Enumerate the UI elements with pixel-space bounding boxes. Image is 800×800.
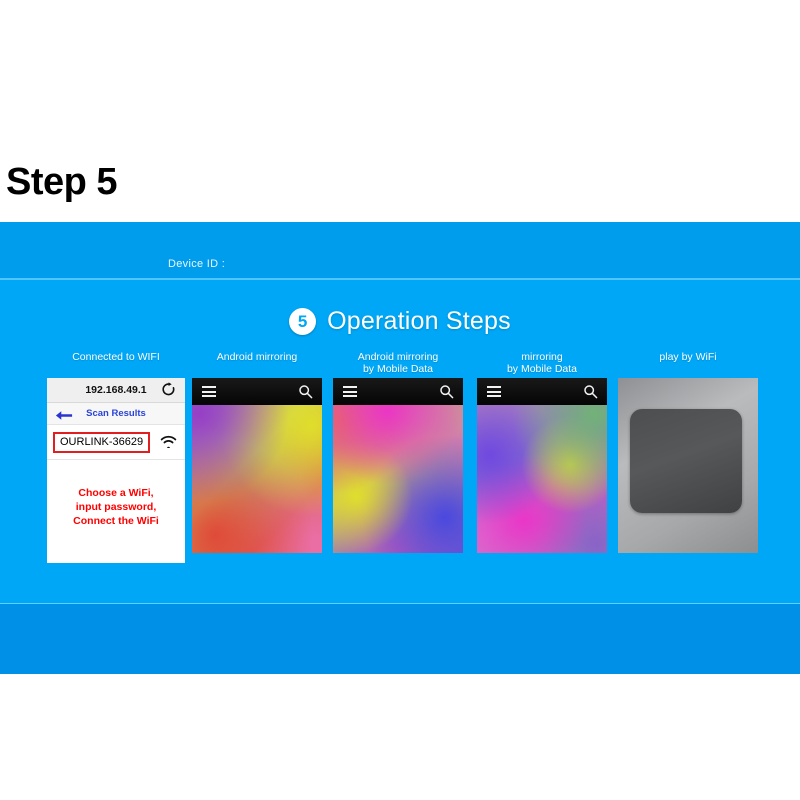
panel-connected-to-wifi: Connected to WIFI 192.168.49.1 Scan R	[47, 352, 185, 563]
caption-line-2: by Mobile Data	[477, 364, 607, 376]
caption-line-1: play by WiFi	[618, 352, 758, 364]
search-icon[interactable]	[439, 384, 454, 399]
search-icon[interactable]	[298, 384, 313, 399]
wifi-url-bar: 192.168.49.1	[47, 378, 185, 403]
wifi-signal-icon	[160, 435, 177, 448]
mirrored-screen-content	[192, 405, 322, 553]
app-toolbar	[333, 378, 463, 405]
mirrored-screen-content	[477, 405, 607, 553]
search-icon[interactable]	[583, 384, 598, 399]
panel-caption-android-mirroring-mobile-data: Android mirroring by Mobile Data	[333, 352, 463, 378]
operation-steps-title: Operation Steps	[327, 307, 511, 336]
app-toolbar	[192, 378, 322, 405]
mirror-phone-card	[192, 378, 322, 553]
slide-footer-band	[0, 603, 800, 674]
caption-line-1: Android mirroring	[192, 352, 322, 364]
refresh-icon[interactable]	[161, 382, 176, 397]
hamburger-menu-icon[interactable]	[487, 386, 501, 397]
panel-caption-mirroring-mobile-data: mirroring by Mobile Data	[477, 352, 607, 378]
wifi-note-line-3: Connect the WiFi	[47, 514, 185, 528]
panels-strip: Connected to WIFI 192.168.49.1 Scan R	[0, 352, 800, 567]
wifi-note-line-1: Choose a WiFi,	[47, 486, 185, 500]
panel-caption-play-by-wifi: play by WiFi	[618, 352, 758, 378]
mirror-phone-card	[333, 378, 463, 553]
wifi-network-row[interactable]: OURLINK-36629	[47, 425, 185, 460]
step-number-badge: 5	[289, 308, 316, 335]
caption-line-2: by Mobile Data	[333, 364, 463, 376]
wifi-url-text: 192.168.49.1	[85, 384, 146, 396]
wifi-phone-card: 192.168.49.1 Scan Results OURLINK-3	[47, 378, 185, 563]
panel-caption-wifi: Connected to WIFI	[47, 352, 185, 378]
tv-screen-area	[630, 409, 742, 513]
slide-top-band	[0, 222, 800, 278]
app-toolbar	[477, 378, 607, 405]
caption-line-1: mirroring	[477, 352, 607, 364]
panel-play-by-wifi: play by WiFi	[618, 352, 758, 553]
back-arrow-icon[interactable]	[55, 408, 73, 419]
tv-photo	[618, 378, 758, 553]
panel-android-mirroring-mobile-data: Android mirroring by Mobile Data	[333, 352, 463, 553]
wifi-scan-bar: Scan Results	[47, 403, 185, 425]
panel-caption-android-mirroring: Android mirroring	[192, 352, 322, 378]
hamburger-menu-icon[interactable]	[202, 386, 216, 397]
panel-android-mirroring: Android mirroring	[192, 352, 322, 553]
operation-steps-title-row: 5 Operation Steps	[0, 307, 800, 336]
wifi-instruction-note: Choose a WiFi, input password, Connect t…	[47, 486, 185, 528]
mirror-phone-card	[477, 378, 607, 553]
mirrored-screen-content	[333, 405, 463, 553]
panel-mirroring-mobile-data: mirroring by Mobile Data	[477, 352, 607, 553]
wifi-note-line-2: input password,	[47, 500, 185, 514]
device-id-label: Device ID :	[168, 258, 225, 270]
wifi-ssid-label[interactable]: OURLINK-36629	[53, 432, 150, 453]
caption-line-1: Android mirroring	[333, 352, 463, 364]
hamburger-menu-icon[interactable]	[343, 386, 357, 397]
slide-divider	[0, 278, 800, 280]
page-title: Step 5	[6, 163, 117, 201]
